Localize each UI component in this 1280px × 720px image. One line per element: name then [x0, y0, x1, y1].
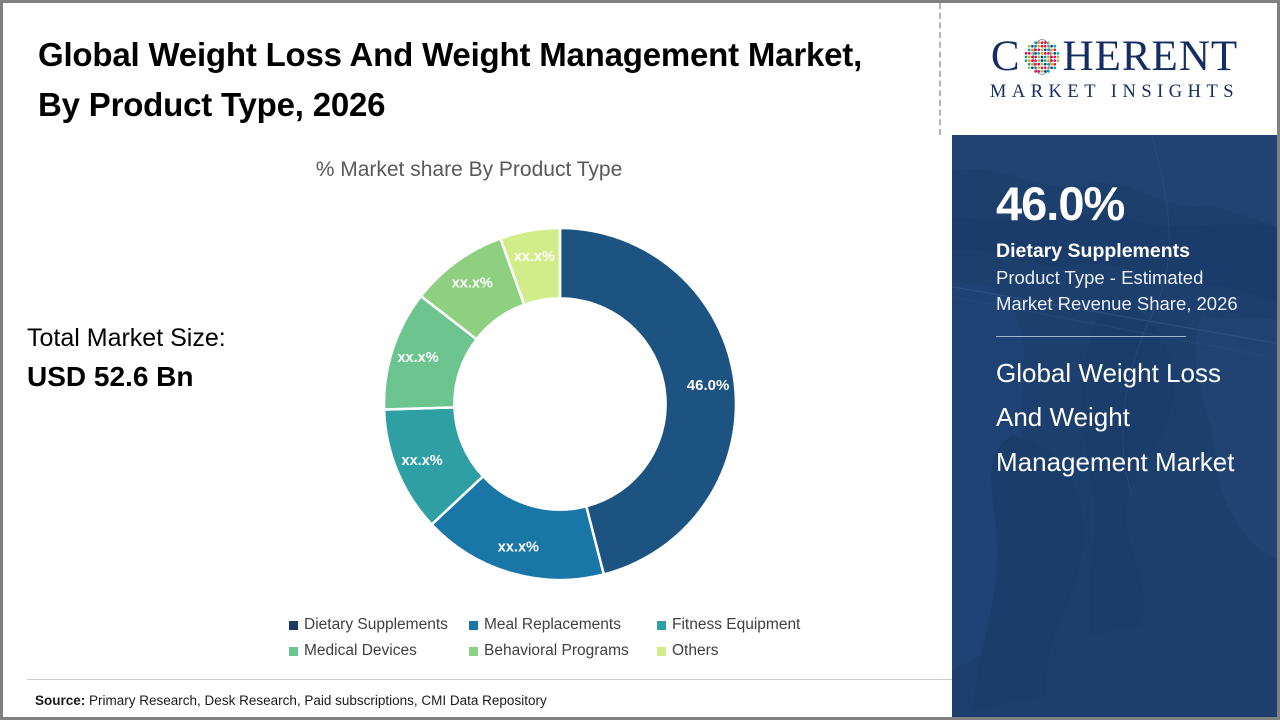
page-title: Global Weight Loss And Weight Management…	[38, 30, 898, 130]
legend-item[interactable]: Dietary Supplements	[289, 616, 469, 634]
legend-item[interactable]: Meal Replacements	[469, 616, 657, 634]
legend-item[interactable]: Behavioral Programs	[469, 642, 657, 660]
legend-label: Fitness Equipment	[672, 616, 800, 634]
logo-letters-herent: HERENT	[1063, 35, 1239, 78]
legend-swatch-icon	[657, 647, 666, 656]
legend-swatch-icon	[289, 621, 298, 630]
donut-slice-label: xx.x%	[452, 275, 493, 291]
logo-wordmark: C HERENT	[990, 35, 1239, 78]
infographic-page: Global Weight Loss And Weight Management…	[0, 0, 1280, 720]
total-market-size-value: USD 52.6 Bn	[27, 361, 194, 393]
stat-divider	[996, 336, 1186, 337]
stat-sidebar: 46.0% Dietary Supplements Product Type -…	[952, 135, 1277, 717]
legend-label: Medical Devices	[304, 642, 417, 660]
donut-chart-svg: 46.0%xx.x%xx.x%xx.x%xx.x%xx.x%	[378, 222, 742, 586]
chart-legend: Dietary SupplementsMeal ReplacementsFitn…	[289, 616, 849, 668]
dotted-globe-icon	[1022, 37, 1062, 77]
legend-label: Dietary Supplements	[304, 616, 448, 634]
dashed-divider	[939, 3, 941, 135]
market-name: Global Weight Loss And Weight Management…	[996, 351, 1251, 485]
chart-subtitle: % Market share By Product Type	[0, 158, 938, 182]
donut-slice-label: xx.x%	[402, 453, 443, 469]
donut-slice-label: xx.x%	[498, 539, 539, 555]
logo-container: C HERENT MARKET INSIGHTS	[952, 3, 1277, 135]
donut-slice-label: xx.x%	[514, 249, 555, 265]
logo-tagline: MARKET INSIGHTS	[990, 82, 1239, 103]
logo-letter-c: C	[991, 35, 1021, 78]
stat-description: Product Type - Estimated Market Revenue …	[996, 265, 1251, 318]
stat-value: 46.0%	[996, 180, 1251, 227]
legend-row: Dietary SupplementsMeal ReplacementsFitn…	[289, 616, 849, 634]
legend-label: Others	[672, 642, 719, 660]
legend-label: Behavioral Programs	[484, 642, 629, 660]
legend-swatch-icon	[469, 621, 478, 630]
legend-item[interactable]: Fitness Equipment	[657, 616, 800, 634]
legend-swatch-icon	[289, 647, 298, 656]
legend-label: Meal Replacements	[484, 616, 621, 634]
source-text: Primary Research, Desk Research, Paid su…	[89, 693, 547, 708]
legend-swatch-icon	[469, 647, 478, 656]
donut-chart: 46.0%xx.x%xx.x%xx.x%xx.x%xx.x%	[378, 222, 742, 586]
legend-item[interactable]: Others	[657, 642, 719, 660]
donut-slice-label: xx.x%	[397, 350, 438, 366]
stat-sidebar-content: 46.0% Dietary Supplements Product Type -…	[952, 135, 1277, 485]
coherent-market-insights-logo: C HERENT MARKET INSIGHTS	[990, 35, 1239, 103]
source-note: Source: Primary Research, Desk Research,…	[35, 693, 547, 708]
total-market-size-label: Total Market Size:	[27, 324, 226, 353]
legend-swatch-icon	[657, 621, 666, 630]
source-label: Source:	[35, 693, 85, 708]
frame-border-left	[0, 0, 3, 720]
legend-row: Medical DevicesBehavioral ProgramsOthers	[289, 642, 849, 660]
legend-item[interactable]: Medical Devices	[289, 642, 469, 660]
donut-slice-label: 46.0%	[687, 377, 730, 394]
stat-name: Dietary Supplements	[996, 240, 1251, 263]
